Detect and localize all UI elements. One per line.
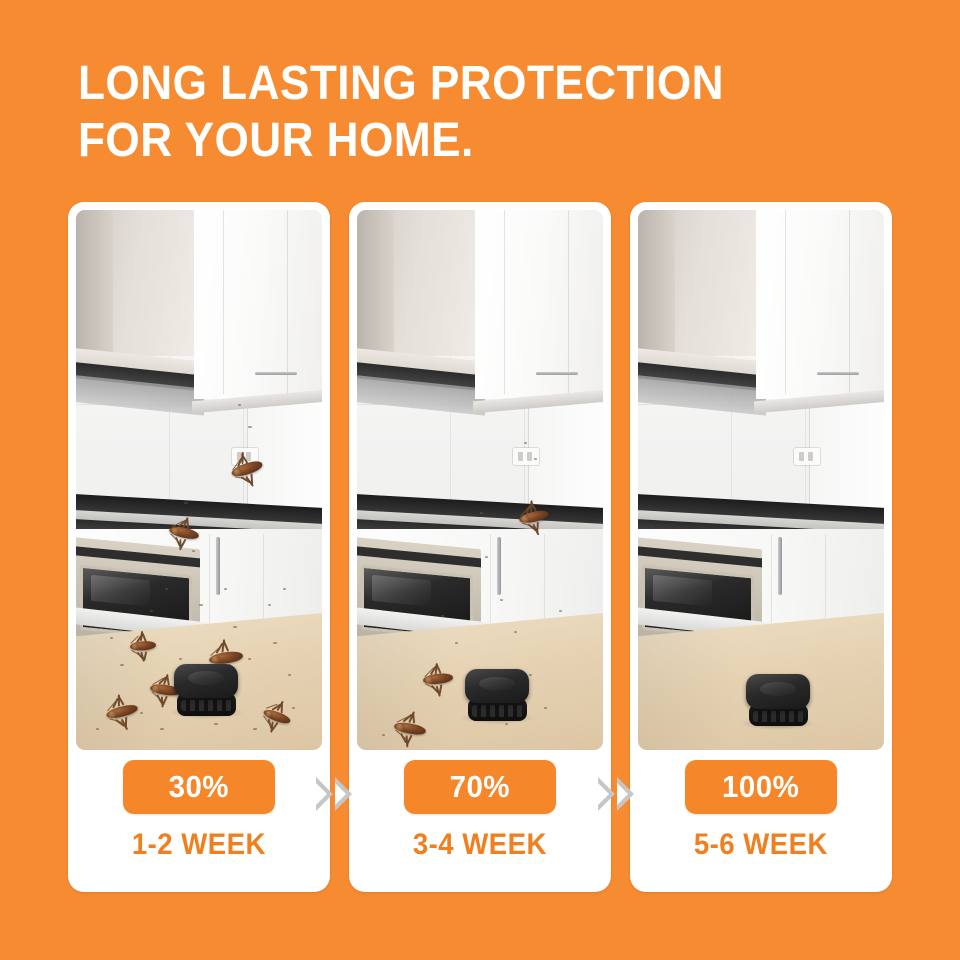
stage-caption: 1-2 WEEK bbox=[68, 828, 330, 862]
chevron-right-icon bbox=[316, 777, 333, 811]
promo-graphic: LONG LASTING PROTECTION FOR YOUR HOME. bbox=[0, 0, 960, 960]
cockroach bbox=[422, 667, 454, 690]
wall-outlet bbox=[794, 448, 820, 465]
stage-caption: 5-6 WEEK bbox=[630, 828, 892, 862]
upper-cabinet bbox=[475, 210, 603, 399]
progress-arrow-1 bbox=[306, 772, 362, 816]
stage-caption: 3-4 WEEK bbox=[349, 828, 611, 862]
progress-badge-value: 70% bbox=[450, 769, 510, 805]
cockroach bbox=[130, 636, 157, 656]
kitchen-photo-2 bbox=[357, 210, 603, 750]
pest-repeller-device bbox=[465, 669, 529, 721]
progress-badge-value: 30% bbox=[169, 769, 229, 805]
progress-badge-value: 100% bbox=[722, 769, 799, 805]
chevron-right-icon bbox=[335, 777, 352, 811]
pest-repeller-device bbox=[746, 674, 810, 726]
upper-cabinet bbox=[756, 210, 884, 399]
page-title: LONG LASTING PROTECTION FOR YOUR HOME. bbox=[78, 56, 814, 169]
progress-badge: 70% bbox=[404, 760, 556, 814]
upper-cabinet bbox=[194, 210, 322, 399]
progress-arrow-2 bbox=[588, 772, 644, 816]
kitchen-photo-3 bbox=[638, 210, 884, 750]
progress-badge: 30% bbox=[123, 760, 275, 814]
stage-card-row: 30% 1-2 WEEK bbox=[68, 202, 892, 892]
stage-card-3[interactable]: 100% 5-6 WEEK bbox=[630, 202, 892, 892]
stage-card-1[interactable]: 30% 1-2 WEEK bbox=[68, 202, 330, 892]
chevron-right-icon bbox=[598, 777, 615, 811]
pest-repeller-device bbox=[174, 664, 238, 716]
progress-badge: 100% bbox=[685, 760, 837, 814]
chevron-right-icon bbox=[617, 777, 634, 811]
kitchen-photo-1 bbox=[76, 210, 322, 750]
stage-card-2[interactable]: 70% 3-4 WEEK bbox=[349, 202, 611, 892]
wall-outlet bbox=[513, 448, 539, 465]
